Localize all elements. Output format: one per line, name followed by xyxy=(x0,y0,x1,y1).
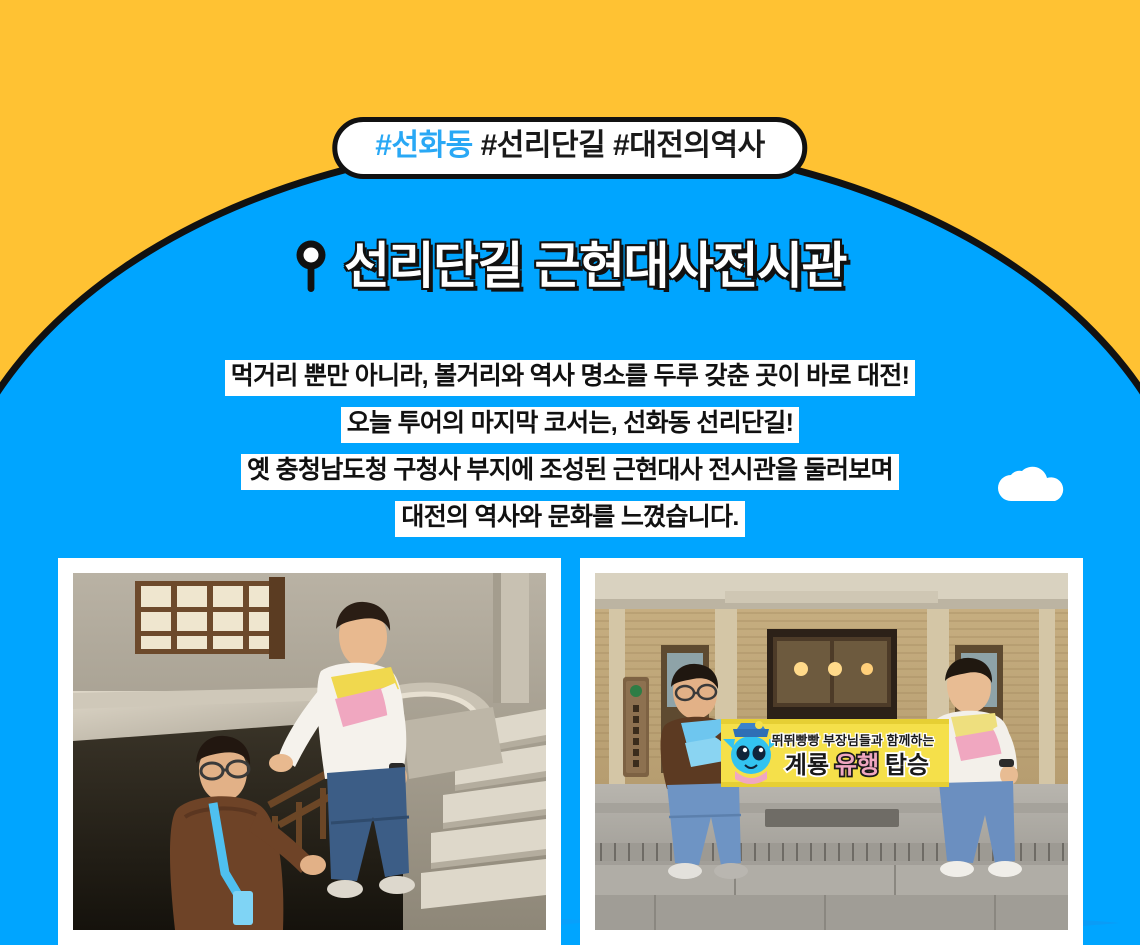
photo-card-list: 뛰뛰빵빵 부장님들과 함께하는 계룡 유행 탑승 xyxy=(0,558,1140,945)
photo-card[interactable]: 뛰뛰빵빵 부장님들과 함께하는 계룡 유행 탑승 xyxy=(580,558,1083,945)
body-line: 옛 충청남도청 구청사 부지에 조성된 근현대사 전시관을 둘러보며 xyxy=(0,454,1140,490)
svg-text:계룡: 계룡 xyxy=(784,752,828,779)
page-title-text: 선리단길 근현대사전시관 xyxy=(344,241,846,291)
svg-text:뛰뛰빵빵 부장님들과 함께하는: 뛰뛰빵빵 부장님들과 함께하는 xyxy=(771,733,934,748)
svg-text:탑승: 탑승 xyxy=(884,752,928,779)
body-line-text: 먹거리 뿐만 아니라, 볼거리와 역사 명소를 두루 갖춘 곳이 바로 대전! xyxy=(225,360,915,396)
body-paragraph: 먹거리 뿐만 아니라, 볼거리와 역사 명소를 두루 갖춘 곳이 바로 대전! … xyxy=(0,360,1140,537)
body-line-text: 오늘 투어의 마지막 코서는, 선화동 선리단길! xyxy=(341,407,800,443)
hashtag-highlight: #선화동 xyxy=(375,129,473,162)
body-line: 대전의 역사와 문화를 느꼈습니다. xyxy=(0,501,1140,537)
body-line: 먹거리 뿐만 아니라, 볼거리와 역사 명소를 두루 갖춘 곳이 바로 대전! xyxy=(0,360,1140,396)
photo-banner: 뛰뛰빵빵 부장님들과 함께하는 계룡 유행 탑승 xyxy=(595,573,1068,930)
page-title: 선리단길 근현대사전시관 xyxy=(0,238,1140,294)
body-line: 오늘 투어의 마지막 코서는, 선화동 선리단길! xyxy=(0,407,1140,443)
photo-card[interactable] xyxy=(58,558,561,945)
hashtag-rest: #선리단길 #대전의역사 xyxy=(473,129,765,162)
hashtag-text: #선화동 #선리단길 #대전의역사 xyxy=(375,129,764,162)
body-line-text: 옛 충청남도청 구청사 부지에 조성된 근현대사 전시관을 둘러보며 xyxy=(241,454,899,490)
photo-staircase xyxy=(73,573,546,930)
svg-text:유행: 유행 xyxy=(834,752,878,779)
location-pin-icon xyxy=(294,238,328,294)
body-line-text: 대전의 역사와 문화를 느꼈습니다. xyxy=(395,501,744,537)
banner-graphic: 뛰뛰빵빵 부장님들과 함께하는 계룡 유행 탑승 xyxy=(721,719,949,787)
hashtag-pill: #선화동 #선리단길 #대전의역사 xyxy=(332,117,807,179)
